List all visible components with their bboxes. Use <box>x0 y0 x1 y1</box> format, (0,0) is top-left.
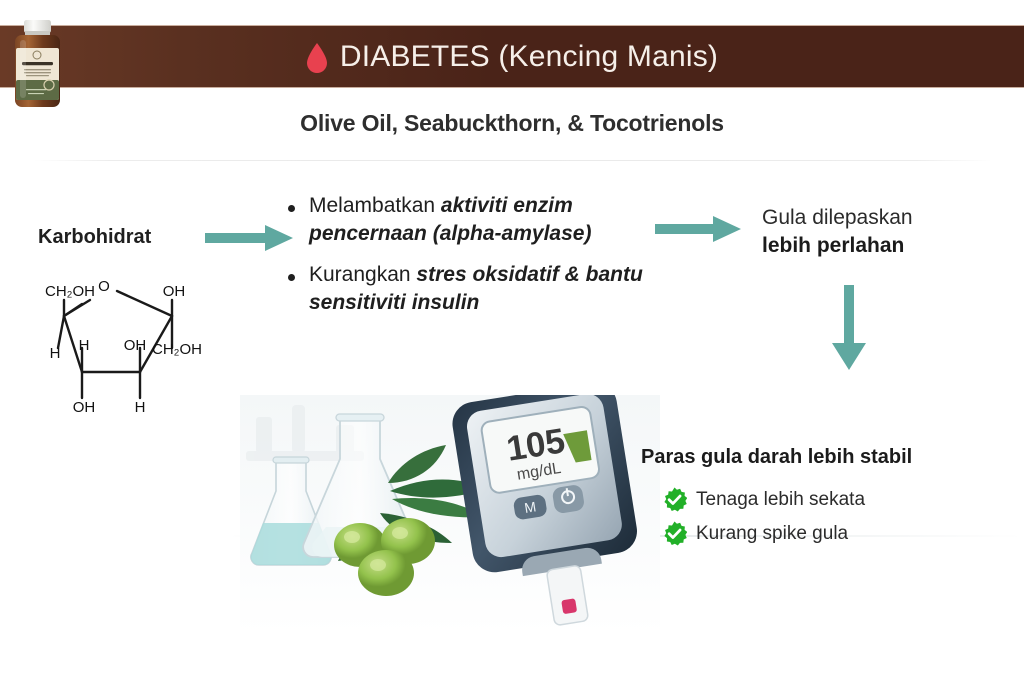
sugar-release-line1: Gula dilepaskan <box>762 204 992 232</box>
arrow-right-icon-2 <box>655 213 743 245</box>
subtitle: Olive Oil, Seabuckthorn, & Tocotrienols <box>0 110 1024 137</box>
lab-scene-image: 105 mg/dL M <box>240 395 660 635</box>
list-item: Kurangkan stres oksidatif & bantu sensit… <box>288 261 668 316</box>
sugar-release-line2: lebih perlahan <box>762 232 992 260</box>
carbohydrate-label: Karbohidrat <box>38 226 151 249</box>
page-title: DIABETES (Kencing Manis) <box>340 40 718 74</box>
meter-memory-button-label: M <box>523 498 537 516</box>
bullet-dot-icon <box>288 205 295 212</box>
bullet-text: Melambatkan aktiviti enzim pencernaan (a… <box>309 192 668 247</box>
header-title-group: DIABETES (Kencing Manis) <box>0 25 1024 88</box>
product-bottle-image <box>9 18 71 113</box>
check-badge-icon <box>662 521 687 546</box>
atom-label-OH-topright: OH <box>163 283 186 300</box>
atom-label-OH-mid: OH <box>124 337 147 354</box>
arrow-right-icon-1 <box>205 222 295 254</box>
sugar-release-text: Gula dilepaskan lebih perlahan <box>762 204 992 260</box>
atom-label-O: O <box>98 278 110 295</box>
atom-label-CH2OH-right: CH₂OH <box>152 341 202 358</box>
benefit-label: Tenaga lebih sekata <box>696 489 865 511</box>
outcome-heading: Paras gula darah lebih stabil <box>641 446 912 469</box>
outcome-benefit-list: Tenaga lebih sekata Kurang spike gula <box>662 487 865 555</box>
mechanism-bullet-list: Melambatkan aktiviti enzim pencernaan (a… <box>288 192 668 331</box>
atom-label-H-left: H <box>50 345 61 362</box>
atom-label-H-midleft: H <box>79 337 90 354</box>
atom-label-CH2OH-top: CH₂OH <box>45 283 95 300</box>
benefit-label: Kurang spike gula <box>696 523 848 545</box>
atom-label-H-bottom: H <box>135 399 146 416</box>
blood-drop-icon <box>306 43 328 73</box>
arrow-down-icon <box>826 285 872 370</box>
glucose-molecule-diagram: O CH₂OH OH H H OH CH₂OH OH H <box>22 270 252 428</box>
list-item: Melambatkan aktiviti enzim pencernaan (a… <box>288 192 668 247</box>
list-item: Kurang spike gula <box>662 521 865 546</box>
atom-label-OH-bottom: OH <box>73 399 96 416</box>
check-badge-icon <box>662 487 687 512</box>
list-item: Tenaga lebih sekata <box>662 487 865 512</box>
header-divider <box>34 160 992 161</box>
bullet-text: Kurangkan stres oksidatif & bantu sensit… <box>309 261 668 316</box>
bullet-dot-icon <box>288 274 295 281</box>
